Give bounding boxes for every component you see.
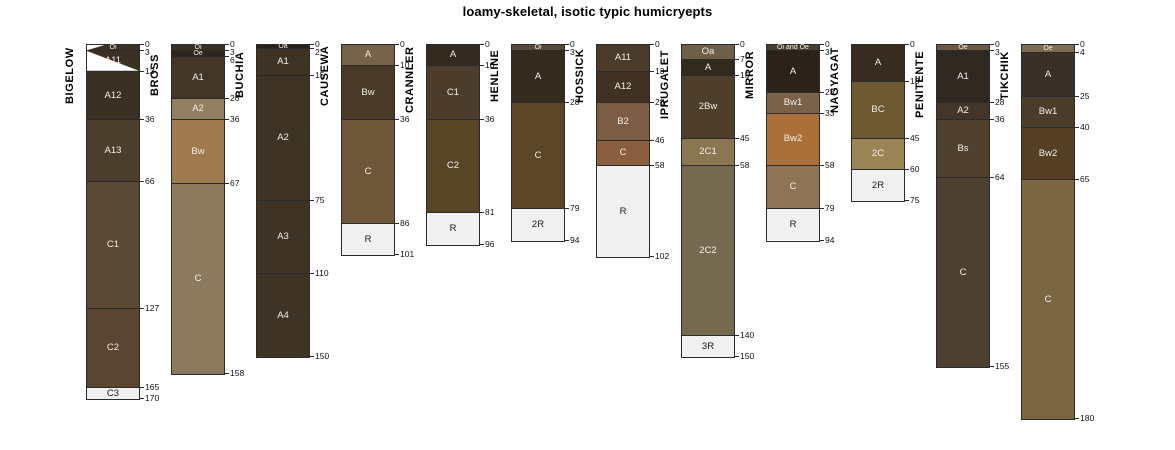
profile-name-label: CRANNLER (404, 44, 416, 116)
depth-tick-label: 96 (485, 239, 494, 248)
depth-tick (139, 50, 144, 51)
horizon-r: R (767, 209, 819, 240)
depth-tick (734, 165, 739, 166)
horizon-bw1: Bw1 (1022, 97, 1074, 128)
horizon-3r: 3R (682, 336, 734, 357)
horizon-bc: BC (852, 82, 904, 138)
depth-tick (819, 50, 824, 51)
horizon-label: Oi (110, 44, 117, 51)
depth-tick-label: 60 (910, 165, 919, 174)
depth-tick-label: 102 (655, 252, 669, 261)
horizon-label: A12 (615, 82, 632, 92)
depth-tick (989, 119, 994, 120)
depth-tick (819, 113, 824, 114)
depth-tick (1074, 127, 1079, 128)
depth-tick (1074, 52, 1079, 53)
horizon-a11: A11 (87, 51, 139, 72)
horizon-c3: C3 (87, 388, 139, 398)
profile-column: OaA1A2A3A4 (256, 44, 310, 358)
horizon-label: C (365, 167, 372, 177)
depth-tick (734, 335, 739, 336)
depth-tick (734, 44, 739, 45)
horizon-label: C (535, 151, 542, 161)
depth-tick (564, 240, 569, 241)
horizon-label: B2 (617, 117, 629, 127)
depth-tick (394, 65, 399, 66)
horizon-a: A (427, 45, 479, 66)
depth-tick-label: 4 (1080, 48, 1085, 57)
depth-tick (224, 119, 229, 120)
depth-tick (734, 75, 739, 76)
horizon-c1: C1 (427, 66, 479, 120)
depth-tick (819, 208, 824, 209)
horizon-label: C (195, 274, 202, 284)
horizon-label: R (450, 224, 457, 234)
depth-tick-label: 66 (145, 177, 154, 186)
depth-tick (904, 169, 909, 170)
horizon-label: A12 (105, 91, 122, 101)
depth-tick-label: 36 (230, 115, 239, 124)
depth-axis: 018456075 (904, 44, 905, 200)
depth-tick (904, 138, 909, 139)
depth-tick-label: 79 (570, 204, 579, 213)
depth-tick-label: 127 (145, 304, 159, 313)
profile-column: OiOeA1A2BwC (171, 44, 225, 375)
profile-name-label: IPRUGALET (659, 44, 671, 125)
horizon-label: C (1045, 295, 1052, 305)
horizon-bw: Bw (172, 120, 224, 184)
horizon-label: A13 (105, 146, 122, 156)
horizon-a: A (682, 60, 734, 77)
profile-name-label: CAUSEWA (319, 44, 331, 107)
horizon-c: C (597, 141, 649, 166)
depth-tick (479, 44, 484, 45)
depth-tick-label: 75 (910, 196, 919, 205)
depth-tick-label: 158 (230, 368, 244, 377)
depth-tick-label: 65 (1080, 175, 1089, 184)
horizon-label: 2C2 (699, 246, 716, 256)
depth-tick-label: 58 (740, 160, 749, 169)
horizon-a13: A13 (87, 120, 139, 182)
horizon-a11: A11 (597, 45, 649, 72)
horizon-a2: A2 (257, 76, 309, 201)
profile-column: OeA1A2BsC (936, 44, 990, 368)
depth-tick (224, 50, 229, 51)
horizon-r: R (597, 166, 649, 258)
depth-tick (989, 44, 994, 45)
depth-tick (904, 44, 909, 45)
horizon-label: A (450, 50, 456, 60)
depth-tick (819, 92, 824, 93)
depth-tick (564, 102, 569, 103)
depth-tick-label: 36 (995, 115, 1004, 124)
depth-tick-label: 165 (145, 383, 159, 392)
horizon-a12: A12 (87, 72, 139, 120)
horizon-label: A2 (277, 133, 289, 143)
depth-tick (394, 223, 399, 224)
depth-tick-label: 67 (230, 179, 239, 188)
depth-tick-label: 140 (740, 331, 754, 340)
depth-axis: 0103686101 (394, 44, 395, 254)
horizon-label: 2C (872, 149, 884, 159)
depth-tick-label: 46 (655, 135, 664, 144)
depth-tick-label: 150 (315, 352, 329, 361)
depth-tick-label: 79 (825, 204, 834, 213)
depth-tick (989, 366, 994, 367)
profile-column: A11A12B2CR (596, 44, 650, 258)
depth-tick (224, 98, 229, 99)
depth-axis: 036263667158 (224, 44, 225, 373)
depth-tick (564, 50, 569, 51)
depth-tick (989, 50, 994, 51)
depth-tick-label: 86 (400, 219, 409, 228)
depth-tick-label: 101 (400, 250, 414, 259)
horizon-c: C (1022, 180, 1074, 419)
horizon-r: R (342, 224, 394, 255)
depth-tick (649, 71, 654, 72)
horizon-label: A (1045, 70, 1051, 80)
depth-tick (139, 119, 144, 120)
depth-tick (394, 44, 399, 45)
depth-tick (224, 44, 229, 45)
horizon-c: C (512, 103, 564, 209)
depth-tick (649, 165, 654, 166)
horizon-label: C2 (107, 343, 119, 353)
horizon-a: A (1022, 53, 1074, 97)
profile-column: ABwCR (341, 44, 395, 256)
depth-tick-label: 45 (740, 133, 749, 142)
horizon-label: A1 (192, 73, 204, 83)
horizon-a: A (342, 45, 394, 66)
depth-tick (309, 273, 314, 274)
horizon-c: C (172, 184, 224, 373)
profile-column: OiAC2R (511, 44, 565, 242)
depth-tick (819, 240, 824, 241)
horizon-r: R (427, 213, 479, 244)
profile-name-label: NAGYAGAT (829, 44, 841, 116)
depth-tick (649, 140, 654, 141)
horizon-label: C (620, 148, 627, 158)
horizon-label: A4 (277, 311, 289, 321)
depth-tick (224, 373, 229, 374)
horizon-label: A (705, 63, 711, 73)
depth-tick (989, 102, 994, 103)
profile-column: AC1C2R (426, 44, 480, 246)
horizon-a1: A1 (172, 57, 224, 99)
horizon-oe: Oe (1022, 45, 1074, 53)
depth-tick (139, 44, 144, 45)
horizon-label: Oi and Oe (777, 44, 809, 51)
horizon-label: 2R (872, 181, 884, 191)
horizon-a2: A2 (172, 99, 224, 120)
horizon-c: C (937, 178, 989, 367)
horizon-label: Oe (958, 44, 967, 51)
depth-tick (479, 244, 484, 245)
horizon-label: R (620, 207, 627, 217)
depth-tick (394, 254, 399, 255)
depth-axis: 021575110150 (309, 44, 310, 356)
depth-tick (1074, 96, 1079, 97)
horizon-c2: C2 (427, 120, 479, 214)
profile-name-label: BROSS (149, 44, 161, 106)
profile-column: OaA2Bw2C12C23R (681, 44, 735, 358)
profile-name-label: BUCHIA (234, 44, 246, 106)
horizon-label: R (790, 220, 797, 230)
depth-tick (139, 181, 144, 182)
profile-column: ABC2C2R (851, 44, 905, 202)
depth-tick (649, 102, 654, 103)
horizon-b2: B2 (597, 103, 649, 140)
horizon-label: Bw1 (1039, 107, 1057, 117)
depth-tick (734, 356, 739, 357)
horizon-label: A3 (277, 232, 289, 242)
horizon-label: 3R (702, 342, 714, 352)
depth-tick (734, 59, 739, 60)
horizon-label: Bs (957, 144, 968, 154)
depth-axis: 013284658102 (649, 44, 650, 256)
depth-tick (989, 177, 994, 178)
horizon-a: A (852, 45, 904, 82)
horizon-2r: 2R (852, 170, 904, 201)
horizon-label: BC (871, 105, 884, 115)
depth-tick-label: 94 (570, 235, 579, 244)
horizon-bw1: Bw1 (767, 93, 819, 114)
horizon-label: A1 (277, 57, 289, 67)
horizon-label: C2 (447, 161, 459, 171)
horizon-c1: C1 (87, 182, 139, 309)
horizon-label: Bw2 (1039, 149, 1057, 159)
depth-tick (139, 71, 144, 72)
depth-tick (479, 212, 484, 213)
horizon-label: A11 (615, 53, 631, 63)
depth-tick-label: 110 (315, 269, 329, 278)
horizon-2bw: 2Bw (682, 76, 734, 138)
depth-tick (479, 119, 484, 120)
depth-tick (564, 44, 569, 45)
depth-tick (904, 200, 909, 201)
horizon-label: Bw1 (784, 98, 802, 108)
horizon-oa: Oa (682, 45, 734, 60)
depth-tick (224, 183, 229, 184)
horizon-label: C1 (107, 240, 119, 250)
depth-tick-label: 58 (655, 160, 664, 169)
depth-tick (139, 308, 144, 309)
depth-axis: 07154558140150 (734, 44, 735, 356)
depth-tick-label: 58 (825, 160, 834, 169)
depth-tick (309, 200, 314, 201)
horizon-label: C1 (447, 88, 459, 98)
horizon-label: R (365, 235, 372, 245)
horizon-label: C3 (107, 389, 119, 399)
horizon-2c: 2C (852, 139, 904, 170)
depth-axis: 03133666127165170 (139, 44, 140, 398)
horizon-bs: Bs (937, 120, 989, 178)
depth-tick-label: 150 (740, 352, 754, 361)
horizon-label: Oe (193, 50, 202, 57)
horizon-2r: 2R (512, 209, 564, 240)
horizon-label: A (365, 50, 371, 60)
depth-tick (649, 256, 654, 257)
depth-tick-label: 40 (1080, 123, 1089, 132)
horizon-a3: A3 (257, 201, 309, 274)
horizon-label: A (875, 58, 881, 68)
profile-column: OiA11A12A13C1C2C3 (86, 44, 140, 400)
depth-tick (394, 119, 399, 120)
horizon-label: A (790, 67, 796, 77)
soil-profile-chart: BIGELOWOiA11A12A13C1C2C30313366612716517… (0, 0, 1175, 450)
horizon-2c2: 2C2 (682, 166, 734, 337)
profile-name-label: TIKCHIK (999, 44, 1011, 107)
horizon-label: Bw2 (784, 134, 802, 144)
depth-tick (904, 81, 909, 82)
depth-tick (1074, 418, 1079, 419)
horizon-label: A11 (105, 56, 121, 66)
horizon-c2: C2 (87, 309, 139, 388)
horizon-bw2: Bw2 (767, 114, 819, 166)
depth-tick-label: 25 (1080, 92, 1089, 101)
horizon-label: C (960, 268, 967, 278)
depth-tick (309, 356, 314, 357)
depth-tick (309, 44, 314, 45)
horizon-c: C (767, 166, 819, 210)
profile-name-label: PENITENTE (914, 44, 926, 125)
horizon-a2: A2 (937, 103, 989, 120)
horizon-label: 2C1 (699, 147, 716, 157)
horizon-label: A2 (957, 106, 969, 116)
profile-name-label: HENLINE (489, 44, 501, 107)
horizon-bw2: Bw2 (1022, 128, 1074, 180)
depth-axis: 03283664155 (989, 44, 990, 366)
horizon-c: C (342, 120, 394, 224)
profile-name-label: MIRROR (744, 44, 756, 106)
depth-tick-label: 170 (145, 393, 159, 402)
depth-tick-label: 81 (485, 208, 494, 217)
horizon-a12: A12 (597, 72, 649, 103)
depth-axis: 03287994 (564, 44, 565, 240)
depth-tick-label: 64 (995, 173, 1004, 182)
depth-axis: 04254065180 (1074, 44, 1075, 418)
profile-column: Oi and OeABw1Bw2CR (766, 44, 820, 242)
depth-tick (1074, 179, 1079, 180)
depth-tick (1074, 44, 1079, 45)
horizon-label: A (535, 72, 541, 82)
depth-tick (819, 44, 824, 45)
horizon-label: Oa (702, 47, 715, 57)
profile-column: OeABw1Bw2C (1021, 44, 1075, 420)
horizon-a: A (512, 51, 564, 103)
horizon-bw: Bw (342, 66, 394, 120)
horizon-a1: A1 (937, 51, 989, 103)
horizon-label: A1 (957, 72, 969, 82)
depth-tick (734, 138, 739, 139)
depth-tick (309, 75, 314, 76)
horizon-label: Oe (1043, 45, 1052, 52)
depth-tick (139, 398, 144, 399)
depth-tick (309, 48, 314, 49)
depth-tick-label: 94 (825, 235, 834, 244)
horizon-2c1: 2C1 (682, 139, 734, 166)
depth-axis: 032333587994 (819, 44, 820, 240)
horizon-label: A2 (192, 104, 204, 114)
depth-tick (479, 65, 484, 66)
depth-tick (564, 208, 569, 209)
depth-tick (649, 44, 654, 45)
depth-tick-label: 36 (145, 115, 154, 124)
depth-tick-label: 155 (995, 362, 1009, 371)
depth-axis: 010368196 (479, 44, 480, 244)
profile-name-label: HOSSICK (574, 44, 586, 107)
profile-name-label: BIGELOW (64, 44, 76, 107)
horizon-a1: A1 (257, 49, 309, 76)
horizon-label: C (790, 182, 797, 192)
depth-tick-label: 36 (485, 115, 494, 124)
horizon-label: Bw (191, 147, 204, 157)
horizon-label: 2Bw (699, 102, 717, 112)
horizon-label: Bw (361, 88, 374, 98)
depth-tick-label: 75 (315, 196, 324, 205)
depth-tick (224, 56, 229, 57)
depth-tick-label: 45 (910, 133, 919, 142)
horizon-label: 2R (532, 220, 544, 230)
depth-tick (139, 387, 144, 388)
horizon-label: Oi (535, 44, 542, 51)
horizon-a4: A4 (257, 274, 309, 357)
depth-tick (819, 165, 824, 166)
horizon-a: A (767, 51, 819, 93)
depth-tick-label: 180 (1080, 414, 1094, 423)
